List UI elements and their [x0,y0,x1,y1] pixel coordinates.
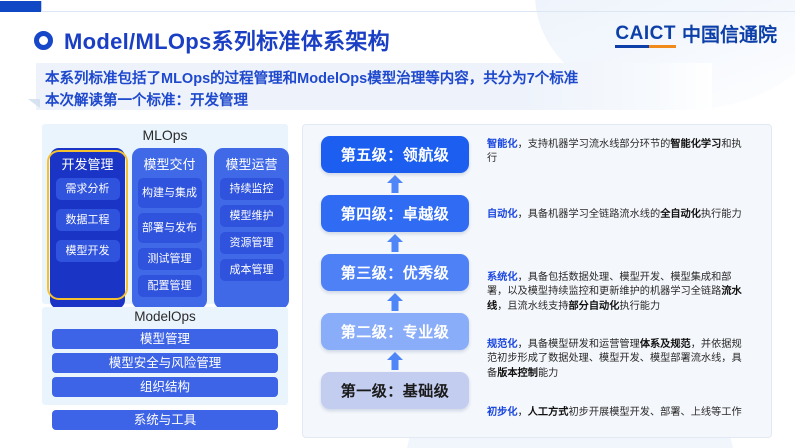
upward-arrow-icon-0 [321,173,469,195]
mlops-item-2-2[interactable]: 资源管理 [220,232,284,254]
left-panel: MLOps 开发管理需求分析数据工程模型开发模型交付构建与集成部署与发布测试管理… [42,124,288,438]
mlops-title: MLOps [42,127,288,143]
maturity-description-2: 规范化，具备模型研发和运营管理体系及规范，并依据规范初步形成了数据处理、模型开发… [487,338,749,381]
page-title-row: Model/MLOps系列标准体系架构 [34,24,390,56]
modelops-bar-2[interactable]: 组织结构 [52,377,278,397]
maturity-level-box-4[interactable]: 第四级：卓越级 [321,195,469,232]
mlops-item-0-2[interactable]: 模型开发 [56,240,120,262]
subtitle-text: 本系列标准包括了MLOps的过程管理和ModelOps模型治理等内容，共分为7个… [45,68,705,113]
mlops-column-1: 模型交付构建与集成部署与发布测试管理配置管理 [132,148,207,309]
mlops-item-1-0[interactable]: 构建与集成 [138,178,202,208]
page-title: Model/MLOps系列标准体系架构 [64,24,390,56]
mlops-item-0-0[interactable]: 需求分析 [56,178,120,200]
maturity-levels-panel: 第五级：领航级第四级：卓越级第三级：优秀级第二级：专业级第一级：基础级 智能化，… [302,124,772,438]
subtitle-line-2: 本次解读第一个标准：开发管理 [45,90,705,112]
modelops-card: ModelOps 模型管理 模型安全与风险管理 组织结构 [42,307,288,405]
top-left-accent-bar [0,1,42,12]
maturity-description-3: 系统化，具备包括数据处理、模型开发、模型集成和部署，以及模型持续监控和更新维护的… [487,271,749,314]
top-divider-line [41,11,795,12]
upward-arrow-icon-2 [321,291,469,313]
system-and-tools-bar[interactable]: 系统与工具 [52,410,278,430]
upward-arrow-icon-1 [321,232,469,254]
logo-word: CAICT [615,24,676,43]
modelops-bar-1[interactable]: 模型安全与风险管理 [52,353,278,373]
upward-arrow-icon-3 [321,350,469,372]
mlops-column-head-2: 模型运营 [225,154,277,173]
slide-root: Model/MLOps系列标准体系架构 CAICT 中国信通院 本系列标准包括了… [0,0,795,448]
maturity-description-4: 自动化，具备机器学习全链路流水线的全自动化执行能力 [487,208,749,222]
mlops-item-2-3[interactable]: 成本管理 [220,259,284,281]
modelops-bar-0[interactable]: 模型管理 [52,329,278,349]
maturity-description-1: 初步化，人工方式初步开展模型开发、部署、上线等工作 [487,406,749,420]
maturity-level-box-2[interactable]: 第二级：专业级 [321,313,469,350]
mlops-item-2-0[interactable]: 持续监控 [220,178,284,200]
caict-logo: CAICT 中国信通院 [615,24,777,48]
logo-underline [615,45,676,48]
logo-mark: CAICT [615,24,676,48]
mlops-item-1-3[interactable]: 配置管理 [138,275,202,297]
maturity-level-box-1[interactable]: 第一级：基础级 [321,372,469,409]
maturity-description-column: 智能化，支持机器学习流水线部分环节的智能化学习和执行自动化，具备机器学习全链路流… [487,125,757,439]
mlops-column-2: 模型运营持续监控模型维护资源管理成本管理 [214,148,289,309]
mlops-card: MLOps 开发管理需求分析数据工程模型开发模型交付构建与集成部署与发布测试管理… [42,124,288,304]
mlops-item-1-2[interactable]: 测试管理 [138,248,202,270]
mlops-column-0: 开发管理需求分析数据工程模型开发 [50,148,125,309]
subtitle-line-1: 本系列标准包括了MLOps的过程管理和ModelOps模型治理等内容，共分为7个… [45,68,705,90]
maturity-level-box-3[interactable]: 第三级：优秀级 [321,254,469,291]
mlops-item-1-1[interactable]: 部署与发布 [138,213,202,243]
logo-chinese-name: 中国信通院 [682,26,777,48]
maturity-level-column: 第五级：领航级第四级：卓越级第三级：优秀级第二级：专业级第一级：基础级 [321,136,469,409]
maturity-level-box-5[interactable]: 第五级：领航级 [321,136,469,173]
mlops-columns: 开发管理需求分析数据工程模型开发模型交付构建与集成部署与发布测试管理配置管理模型… [50,148,289,309]
mlops-column-head-1: 模型交付 [143,154,195,173]
logo-underline-blue [615,45,648,48]
mlops-item-2-1[interactable]: 模型维护 [220,205,284,227]
ring-bullet-icon [34,31,53,50]
mlops-item-0-1[interactable]: 数据工程 [56,209,120,231]
modelops-title: ModelOps [42,309,288,324]
mlops-column-head-0: 开发管理 [61,154,113,173]
maturity-description-5: 智能化，支持机器学习流水线部分环节的智能化学习和执行 [487,138,749,167]
logo-underline-orange [649,45,676,48]
